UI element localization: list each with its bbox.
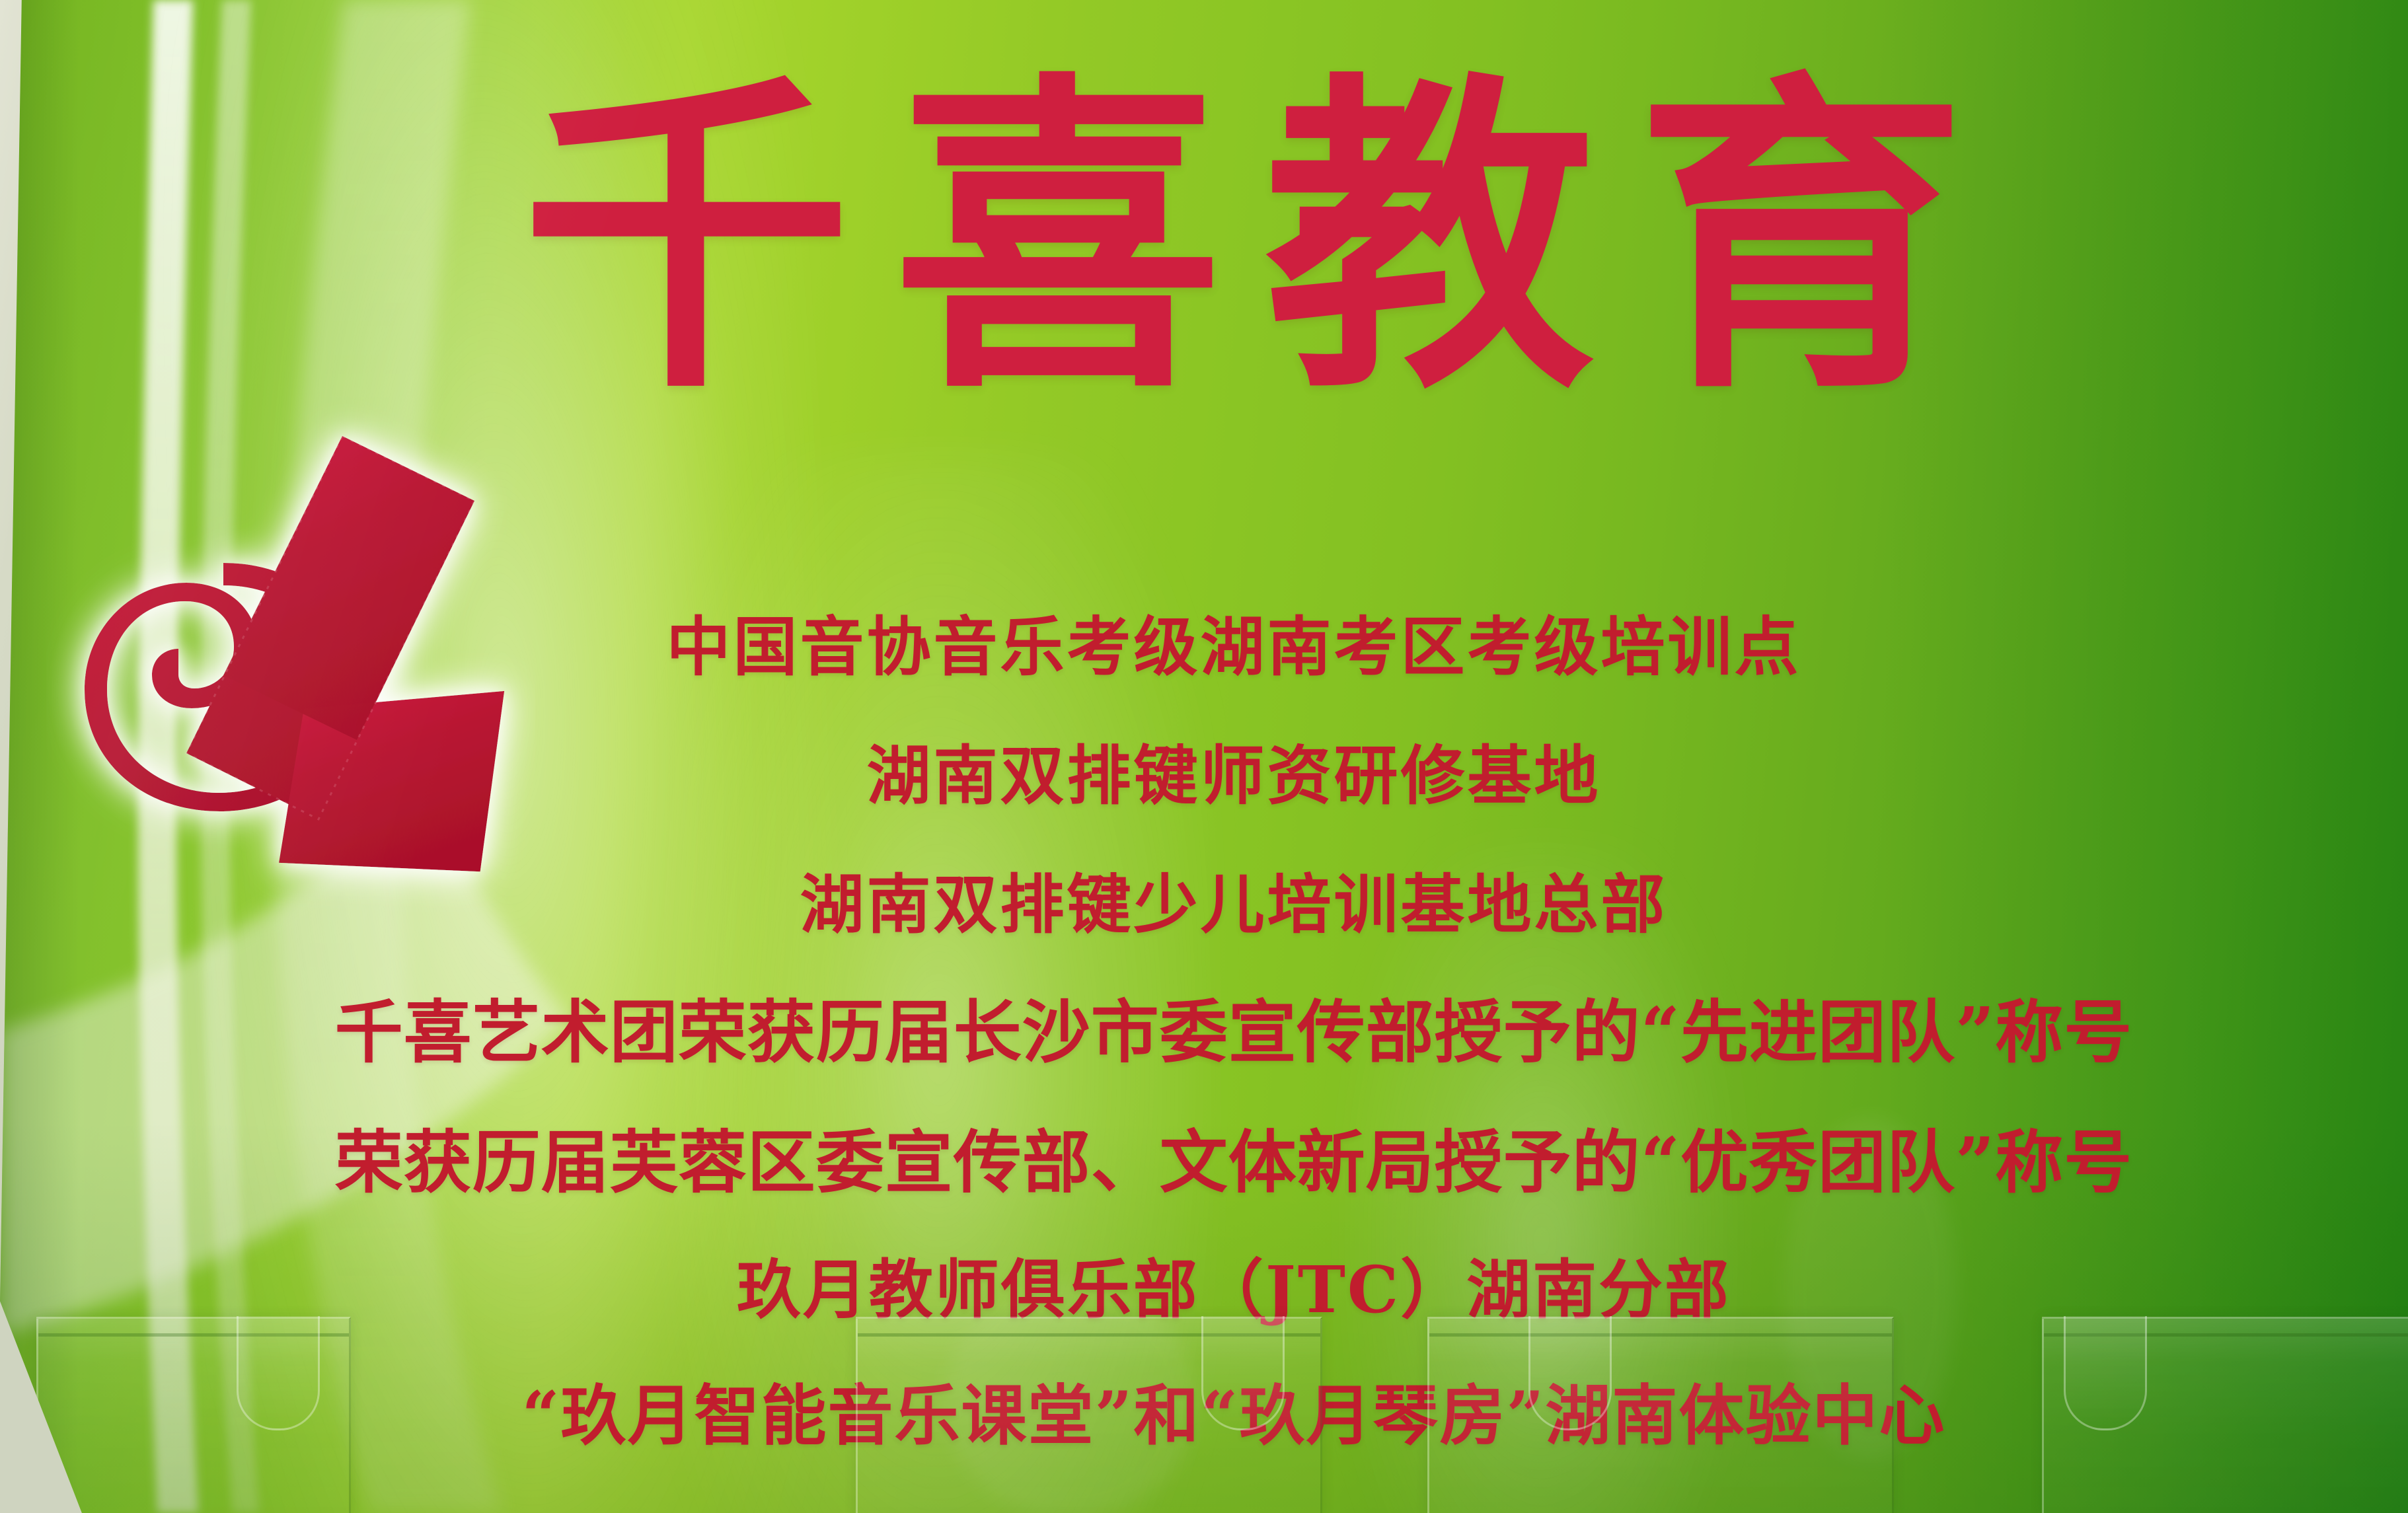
holder-thumb-notch <box>237 1316 320 1430</box>
brochure-holder[interactable] <box>36 1317 351 1513</box>
holder-thumb-notch <box>2064 1316 2147 1430</box>
brochure-holder[interactable] <box>2042 1317 2408 1513</box>
brochure-holder-row <box>0 1308 2408 1513</box>
brochure-holder[interactable] <box>856 1317 1322 1513</box>
brochure-holder[interactable] <box>1427 1317 1894 1513</box>
page-title: 千喜教育 <box>0 63 2408 414</box>
signboard-photo: 千喜教育 中国音协音乐考级湖南考区考级培训点 湖南双排键师资研修基地 湖南双排键… <box>0 0 2408 1513</box>
credential-line-1: 中国音协音乐考级湖南考区考级培训点 <box>59 595 2408 688</box>
holder-thumb-notch <box>1528 1316 1612 1430</box>
credential-line-2: 湖南双排键师资研修基地 <box>59 723 2408 817</box>
credential-line-5: 荣获历届芙蓉区委宣传部、文体新局授予的“优秀团队”称号 <box>59 1107 2408 1206</box>
green-signboard: 千喜教育 中国音协音乐考级湖南考区考级培训点 湖南双排键师资研修基地 湖南双排键… <box>0 0 2408 1513</box>
holder-thumb-notch <box>1201 1316 1285 1430</box>
holder-lip <box>1429 1333 1892 1337</box>
credential-line-4: 千喜艺术团荣获历届长沙市委宣传部授予的“先进团队”称号 <box>59 977 2408 1076</box>
credential-line-3: 湖南双排键少儿培训基地总部 <box>59 852 2408 945</box>
